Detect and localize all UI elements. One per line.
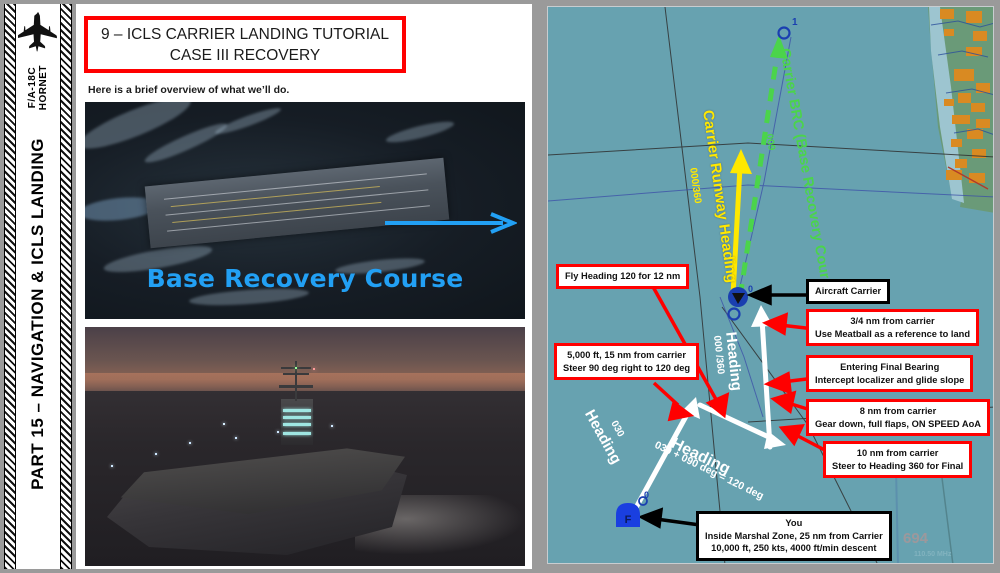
slide-content-left: 9 – ICLS CARRIER LANDING TUTORIAL CASE I… bbox=[76, 4, 532, 569]
callout-ten-nm[interactable]: 10 nm from carrier Steer to Heading 360 … bbox=[823, 441, 972, 478]
navigation-map[interactable]: F Carrier Runway Heading 000/360 Carrier… bbox=[547, 6, 994, 564]
page-title: 9 – ICLS CARRIER LANDING TUTORIAL CASE I… bbox=[84, 16, 406, 73]
callout-line: 8 nm from carrier bbox=[815, 405, 981, 418]
callout-fly-heading-120[interactable]: Fly Heading 120 for 12 nm bbox=[556, 264, 689, 289]
carrier-topdown-image: Base Recovery Course bbox=[85, 102, 525, 319]
aircraft-carrier-marker bbox=[728, 287, 748, 307]
carrier-sunset-image bbox=[85, 327, 525, 566]
callout-five-thousand-ft[interactable]: 5,000 ft, 15 nm from carrier Steer 90 de… bbox=[554, 343, 699, 380]
you-aircraft-marker: F bbox=[616, 497, 647, 527]
sidebar-body: F/A-18C HORNET PART 15 – NAVIGATION & IC… bbox=[16, 4, 60, 569]
page-title-line-2: CASE III RECOVERY bbox=[170, 45, 320, 66]
tacan-channel-watermark: 694 bbox=[903, 530, 928, 547]
slide-subtitle: Here is a brief overview of what we’ll d… bbox=[88, 84, 289, 96]
callout-line: 3/4 nm from carrier bbox=[815, 315, 970, 328]
callout-line: You bbox=[705, 517, 883, 530]
ils-frequency-watermark: 110.50 MHz bbox=[914, 551, 951, 558]
waypoint-0-label: 0 bbox=[748, 284, 753, 294]
callout-line: Steer 90 deg right to 120 deg bbox=[563, 362, 690, 375]
callout-line: Use Meatball as a reference to land bbox=[815, 328, 970, 341]
base-recovery-course-caption: Base Recovery Course bbox=[85, 264, 525, 293]
airframe-label: F/A-18C HORNET bbox=[27, 65, 49, 110]
callout-line: 10 nm from carrier bbox=[832, 447, 963, 460]
callout-entering-final-bearing[interactable]: Entering Final Bearing Intercept localiz… bbox=[806, 355, 973, 392]
you-waypoint-label: 0 bbox=[644, 490, 649, 500]
callout-line: Inside Marshal Zone, 25 nm from Carrier bbox=[705, 530, 883, 543]
callout-three-quarter-nm[interactable]: 3/4 nm from carrier Use Meatball as a re… bbox=[806, 309, 979, 346]
ship-island-shape bbox=[281, 399, 313, 445]
sidebar-hatch-right bbox=[60, 4, 72, 569]
callout-you[interactable]: You Inside Marshal Zone, 25 nm from Carr… bbox=[696, 511, 892, 561]
base-recovery-course-arrow bbox=[385, 212, 517, 234]
callout-eight-nm[interactable]: 8 nm from carrier Gear down, full flaps,… bbox=[806, 399, 990, 436]
callout-line: 5,000 ft, 15 nm from carrier bbox=[563, 349, 690, 362]
sidebar-hatch-left bbox=[4, 4, 16, 569]
route-arrows bbox=[632, 305, 786, 515]
page-title-line-1: 9 – ICLS CARRIER LANDING TUTORIAL bbox=[101, 24, 389, 45]
callout-line: 10,000 ft, 250 kts, 4000 ft/min descent bbox=[705, 542, 883, 555]
callout-line: Intercept localizer and glide slope bbox=[815, 374, 964, 387]
sidebar: F/A-18C HORNET PART 15 – NAVIGATION & IC… bbox=[4, 4, 72, 569]
carrier-deck-shape bbox=[145, 158, 450, 248]
part-title: PART 15 – NAVIGATION & ICLS LANDING bbox=[28, 138, 48, 490]
callout-line: Aircraft Carrier bbox=[815, 285, 881, 298]
fighter-jet-icon bbox=[18, 12, 58, 59]
airframe-line-1: F/A-18C bbox=[27, 67, 38, 108]
waypoint-1-marker bbox=[779, 28, 790, 39]
waypoint-0-marker bbox=[729, 309, 740, 320]
callout-line: Entering Final Bearing bbox=[815, 361, 964, 374]
callout-line: Fly Heading 120 for 12 nm bbox=[565, 270, 680, 283]
callout-line: Steer to Heading 360 for Final bbox=[832, 460, 963, 473]
callout-line: Gear down, full flaps, ON SPEED AoA bbox=[815, 418, 981, 431]
landmass bbox=[928, 7, 994, 213]
callout-aircraft-carrier[interactable]: Aircraft Carrier bbox=[806, 279, 890, 304]
svg-text:F: F bbox=[625, 514, 632, 526]
slide-page: F/A-18C HORNET PART 15 – NAVIGATION & IC… bbox=[0, 0, 1000, 573]
waypoint-1-label: 1 bbox=[792, 17, 798, 28]
airframe-line-2: HORNET bbox=[38, 65, 49, 110]
